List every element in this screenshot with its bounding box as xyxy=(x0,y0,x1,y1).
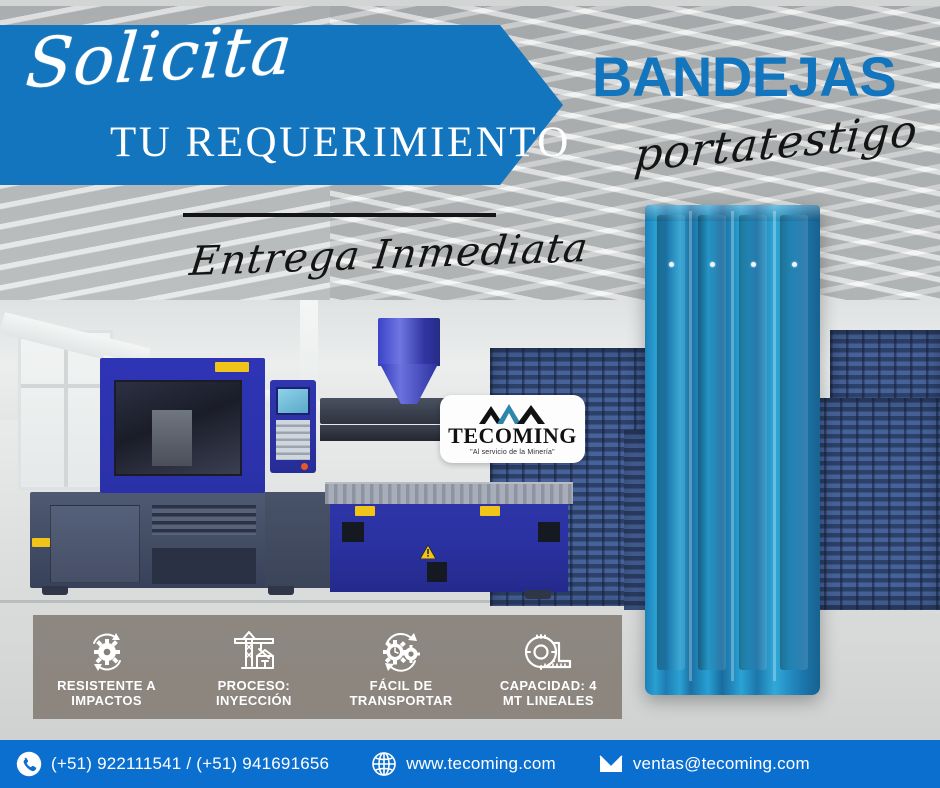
poster-canvas: TECOMING "Al servicio de la Minería" Sol… xyxy=(0,0,940,788)
machine-base-right xyxy=(265,492,335,588)
email-text: ventas@tecoming.com xyxy=(633,754,810,774)
machine-clamp-window xyxy=(114,380,242,476)
contact-website[interactable]: www.tecoming.com xyxy=(371,751,556,777)
feature-label: PROCESO: INYECCIÓN xyxy=(216,678,292,709)
machine-grille-a xyxy=(342,522,364,542)
logo-tagline: "Al servicio de la Minería" xyxy=(470,449,555,456)
machine-emergency-stop xyxy=(301,463,308,470)
machine-hmi-screen xyxy=(276,387,310,415)
tray-stack-right-mid-ribs xyxy=(808,398,940,610)
machine-foot-mid xyxy=(268,586,294,595)
product-title: BANDEJAS xyxy=(592,44,896,109)
bandeja-portatestigo-product xyxy=(645,205,820,695)
tray-drain-hole-3 xyxy=(751,262,756,267)
machine-vents xyxy=(152,505,256,535)
machine-barrel xyxy=(320,398,448,424)
delivery-divider xyxy=(183,213,496,217)
machine-label-b xyxy=(480,506,500,516)
machine-keypad xyxy=(276,420,310,460)
tray-channel-4 xyxy=(780,215,808,670)
tape-measure-icon xyxy=(523,630,573,674)
machine-foot-right xyxy=(525,590,551,599)
cta-script-word: Solicita xyxy=(23,11,296,104)
feature-label: FÁCIL DE TRANSPORTAR xyxy=(350,678,453,709)
logo-wordmark: TECOMING xyxy=(448,425,577,447)
tecoming-chevrons-icon xyxy=(475,402,551,424)
phone-text: (+51) 922111541 / (+51) 941691656 xyxy=(51,754,329,774)
globe-icon xyxy=(371,751,397,777)
website-text: www.tecoming.com xyxy=(406,754,556,774)
feature-item-proceso: PROCESO: INYECCIÓN xyxy=(180,615,327,719)
feature-item-capacidad: CAPACIDAD: 4 MT LINEALES xyxy=(475,615,622,719)
feature-label: RESISTENTE A IMPACTOS xyxy=(57,678,156,709)
machine-guard-label xyxy=(215,362,249,372)
feature-label: CAPACIDAD: 4 MT LINEALES xyxy=(500,678,597,709)
envelope-icon xyxy=(598,751,624,777)
tray-channel-2 xyxy=(698,215,726,670)
tray-drain-hole-4 xyxy=(792,262,797,267)
tray-divider-1 xyxy=(689,211,692,681)
machine-mold xyxy=(152,410,192,466)
injection-molding-machine: TECOMING "Al servicio de la Minería" xyxy=(20,300,580,620)
machine-deck-plate xyxy=(325,482,573,504)
tray-drain-hole-2 xyxy=(710,262,715,267)
tray-channel-3 xyxy=(739,215,767,670)
machine-label-a xyxy=(355,506,375,516)
machine-control-panel xyxy=(270,380,316,473)
machine-label-left xyxy=(32,538,50,547)
machine-grille-b xyxy=(538,522,560,542)
contact-phone[interactable]: (+51) 922111541 / (+51) 941691656 xyxy=(16,751,329,777)
top-gutter xyxy=(0,0,940,6)
tray-channel-1 xyxy=(657,215,685,670)
tray-divider-3 xyxy=(773,211,776,681)
machine-opening xyxy=(152,548,256,584)
features-bar: RESISTENTE A IMPACTOS xyxy=(33,615,622,719)
tray-drain-hole-1 xyxy=(669,262,674,267)
cta-headline: TU REQUERIMIENTO xyxy=(110,118,571,167)
contact-footer-bar: (+51) 922111541 / (+51) 941691656 www.te… xyxy=(0,740,940,788)
machine-hopper xyxy=(378,318,440,366)
machine-foot-left xyxy=(42,586,68,595)
machine-access-panel xyxy=(50,505,140,583)
warning-triangle-icon xyxy=(420,545,436,559)
machine-control-box xyxy=(427,562,447,582)
feature-item-resistente: RESISTENTE A IMPACTOS xyxy=(33,615,180,719)
machine-clamp-guard xyxy=(100,358,265,493)
gears-timer-refresh-icon xyxy=(376,630,426,674)
crane-building-icon xyxy=(229,630,279,674)
feature-item-facil: FÁCIL DE TRANSPORTAR xyxy=(328,615,475,719)
gear-refresh-icon xyxy=(82,630,132,674)
contact-email[interactable]: ventas@tecoming.com xyxy=(598,751,810,777)
machine-logo-plate: TECOMING "Al servicio de la Minería" xyxy=(440,395,585,463)
tray-divider-2 xyxy=(731,211,734,681)
phone-icon xyxy=(16,751,42,777)
